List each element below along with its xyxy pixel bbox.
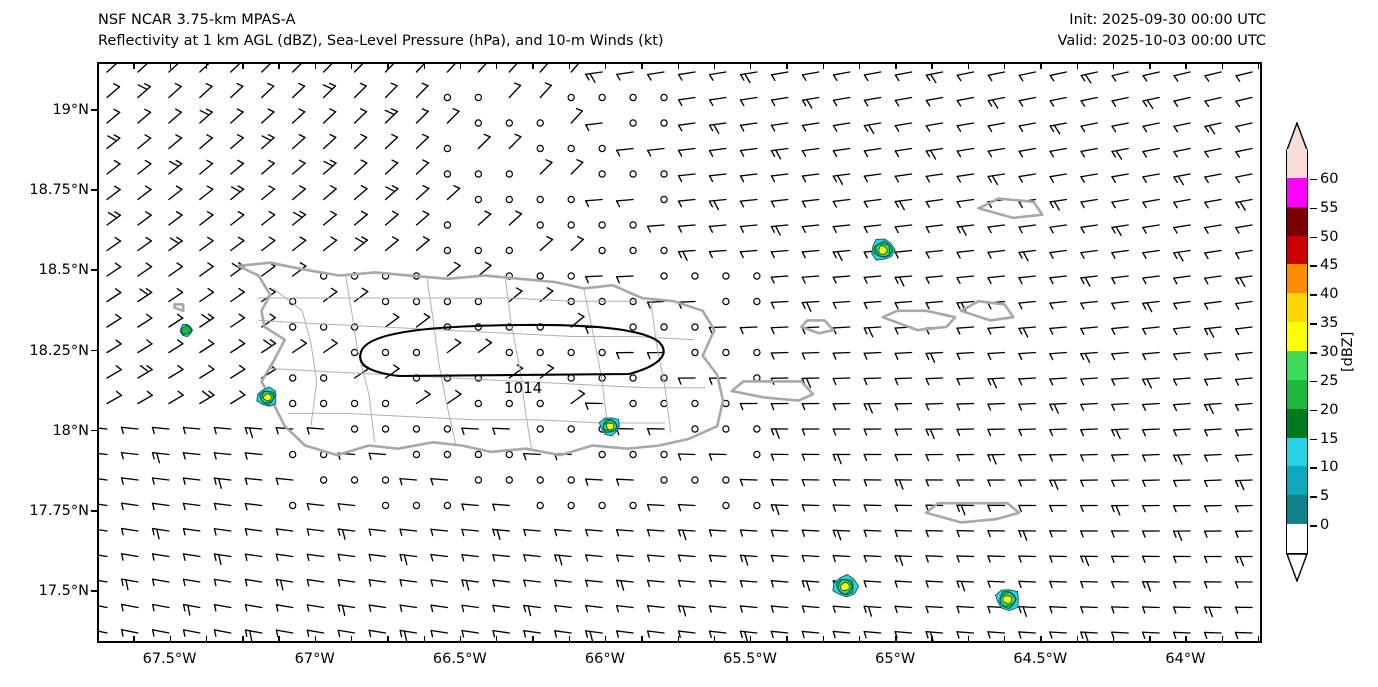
colorbar-unit-label: [dBZ]: [1340, 332, 1356, 372]
x-tick-mark: [532, 62, 533, 69]
x-tick-mark: [1077, 636, 1078, 643]
colorbar-tick-label: 25: [1320, 373, 1338, 389]
y-tick-label: 17.5°N: [39, 583, 89, 599]
colorbar-bottom-extend: [1286, 553, 1308, 582]
colorbar-band: [1287, 264, 1307, 293]
y-tick-mark: [91, 109, 97, 111]
x-tick-label: 66°W: [585, 651, 625, 667]
x-tick-mark: [1185, 636, 1186, 643]
colorbar-tick-mark: [1310, 525, 1317, 527]
x-tick-mark: [786, 636, 787, 643]
x-tick-mark: [315, 62, 316, 69]
colorbar-tick-mark: [1310, 467, 1317, 469]
colorbar-tick-label: 20: [1320, 402, 1338, 418]
x-tick-mark: [968, 62, 969, 69]
colorbar-tick-mark: [1310, 237, 1317, 239]
y-tick-label: 19°N: [52, 102, 89, 118]
x-tick-mark: [605, 636, 606, 643]
x-tick-mark: [133, 636, 134, 643]
colorbar-tick-mark: [1310, 381, 1317, 383]
x-tick-label: 64°W: [1165, 651, 1205, 667]
title-line-2: Reflectivity at 1 km AGL (dBZ), Sea-Leve…: [98, 31, 664, 52]
colorbar-band: [1287, 437, 1307, 466]
colorbar-bands: [1286, 150, 1308, 554]
colorbar-tick-mark: [1310, 439, 1317, 441]
y-tick-mark: [91, 350, 97, 352]
x-tick-mark: [387, 636, 388, 643]
x-tick-mark: [97, 636, 98, 643]
x-tick-mark: [278, 636, 279, 643]
x-tick-mark: [1040, 636, 1041, 643]
x-tick-mark: [569, 636, 570, 643]
x-tick-mark: [1004, 636, 1005, 643]
x-tick-label: 67.5°W: [143, 651, 197, 667]
x-tick-mark: [387, 62, 388, 69]
colorbar-band: [1287, 524, 1307, 553]
colorbar-tick-label: 15: [1320, 431, 1338, 447]
mslp-contour-label: 1014: [504, 379, 542, 397]
x-tick-mark: [931, 636, 932, 643]
x-tick-mark: [605, 62, 606, 69]
map-plot-area[interactable]: 1014: [97, 62, 1262, 643]
colorbar-tick-label: 45: [1320, 257, 1338, 273]
colorbar[interactable]: [1286, 122, 1310, 582]
x-tick-mark: [460, 62, 461, 69]
x-tick-mark: [97, 62, 98, 69]
x-tick-label: 64.5°W: [1013, 651, 1067, 667]
x-tick-mark: [1222, 62, 1223, 69]
colorbar-band: [1287, 206, 1307, 235]
x-tick-mark: [569, 62, 570, 69]
colorbar-tick-label: 40: [1320, 286, 1338, 302]
colorbar-tick-mark: [1310, 208, 1317, 210]
x-tick-mark: [1258, 636, 1259, 643]
colorbar-band: [1287, 408, 1307, 437]
x-tick-mark: [859, 636, 860, 643]
colorbar-band: [1287, 293, 1307, 322]
colorbar-tick-mark: [1310, 496, 1317, 498]
x-tick-mark: [641, 62, 642, 69]
y-tick-mark: [91, 430, 97, 432]
x-tick-mark: [1113, 636, 1114, 643]
x-tick-label: 66.5°W: [433, 651, 487, 667]
colorbar-tick-label: 5: [1320, 488, 1329, 504]
x-tick-mark: [968, 636, 969, 643]
colorbar-band: [1287, 466, 1307, 495]
x-tick-mark: [641, 636, 642, 643]
colorbar-band: [1287, 177, 1307, 206]
title-line-1: NSF NCAR 3.75-km MPAS-A: [98, 10, 296, 31]
x-tick-mark: [678, 62, 679, 69]
colorbar-tick-label: 50: [1320, 229, 1338, 245]
y-tick-mark: [91, 269, 97, 271]
colorbar-tick-mark: [1310, 410, 1317, 412]
plot-header: NSF NCAR 3.75-km MPAS-A Reflectivity at …: [0, 0, 1378, 56]
colorbar-top-extend: [1286, 122, 1308, 151]
x-tick-mark: [750, 62, 751, 69]
colorbar-tick-label: 10: [1320, 459, 1338, 475]
y-tick-label: 18°N: [52, 423, 89, 439]
x-tick-mark: [460, 636, 461, 643]
colorbar-band: [1287, 495, 1307, 524]
x-tick-mark: [351, 636, 352, 643]
x-tick-mark: [823, 62, 824, 69]
x-tick-mark: [1258, 62, 1259, 69]
valid-time-label: Valid: 2025-10-03 00:00 UTC: [1058, 31, 1266, 52]
x-tick-mark: [424, 62, 425, 69]
x-tick-mark: [714, 62, 715, 69]
x-tick-mark: [1040, 62, 1041, 69]
colorbar-band: [1287, 379, 1307, 408]
y-tick-label: 18.25°N: [29, 343, 89, 359]
x-tick-mark: [532, 636, 533, 643]
colorbar-band: [1287, 235, 1307, 264]
colorbar-tick-label: 30: [1320, 344, 1338, 360]
y-tick-label: 18.75°N: [29, 182, 89, 198]
x-tick-mark: [351, 62, 352, 69]
x-tick-mark: [895, 636, 896, 643]
x-tick-label: 65.5°W: [723, 651, 777, 667]
y-tick-mark: [91, 590, 97, 592]
colorbar-tick-mark: [1310, 265, 1317, 267]
x-tick-mark: [750, 636, 751, 643]
x-tick-mark: [859, 62, 860, 69]
x-tick-mark: [1222, 636, 1223, 643]
x-tick-mark: [206, 62, 207, 69]
x-tick-mark: [1149, 62, 1150, 69]
colorbar-tick-label: 35: [1320, 315, 1338, 331]
colorbar-tick-label: 0: [1320, 517, 1329, 533]
colorbar-tick-mark: [1310, 179, 1317, 181]
x-tick-mark: [170, 636, 171, 643]
colorbar-tick-mark: [1310, 352, 1317, 354]
x-tick-mark: [206, 636, 207, 643]
x-tick-mark: [315, 636, 316, 643]
x-tick-mark: [823, 636, 824, 643]
mslp-contour-layer: [99, 64, 1260, 641]
x-tick-mark: [895, 62, 896, 69]
y-tick-label: 18.5°N: [39, 262, 89, 278]
x-tick-mark: [242, 636, 243, 643]
x-tick-mark: [170, 62, 171, 69]
x-tick-mark: [931, 62, 932, 69]
x-tick-mark: [424, 636, 425, 643]
colorbar-band: [1287, 322, 1307, 351]
x-tick-mark: [1113, 62, 1114, 69]
x-tick-mark: [496, 62, 497, 69]
colorbar-tick-label: 60: [1320, 171, 1338, 187]
x-tick-mark: [1004, 62, 1005, 69]
x-tick-label: 65°W: [875, 651, 915, 667]
x-tick-mark: [242, 62, 243, 69]
x-tick-mark: [278, 62, 279, 69]
init-time-label: Init: 2025-09-30 00:00 UTC: [1069, 10, 1266, 31]
x-tick-mark: [133, 62, 134, 69]
y-tick-mark: [91, 189, 97, 191]
x-tick-label: 67°W: [295, 651, 335, 667]
x-tick-mark: [1149, 636, 1150, 643]
y-tick-mark: [91, 510, 97, 512]
colorbar-tick-mark: [1310, 323, 1317, 325]
colorbar-band: [1287, 351, 1307, 380]
colorbar-band: [1287, 149, 1307, 178]
colorbar-tick-label: 55: [1320, 200, 1338, 216]
x-tick-mark: [496, 636, 497, 643]
x-tick-mark: [1077, 62, 1078, 69]
x-tick-mark: [1185, 62, 1186, 69]
x-tick-mark: [786, 62, 787, 69]
x-tick-mark: [714, 636, 715, 643]
x-tick-mark: [678, 636, 679, 643]
y-tick-label: 17.75°N: [29, 503, 89, 519]
colorbar-tick-mark: [1310, 294, 1317, 296]
